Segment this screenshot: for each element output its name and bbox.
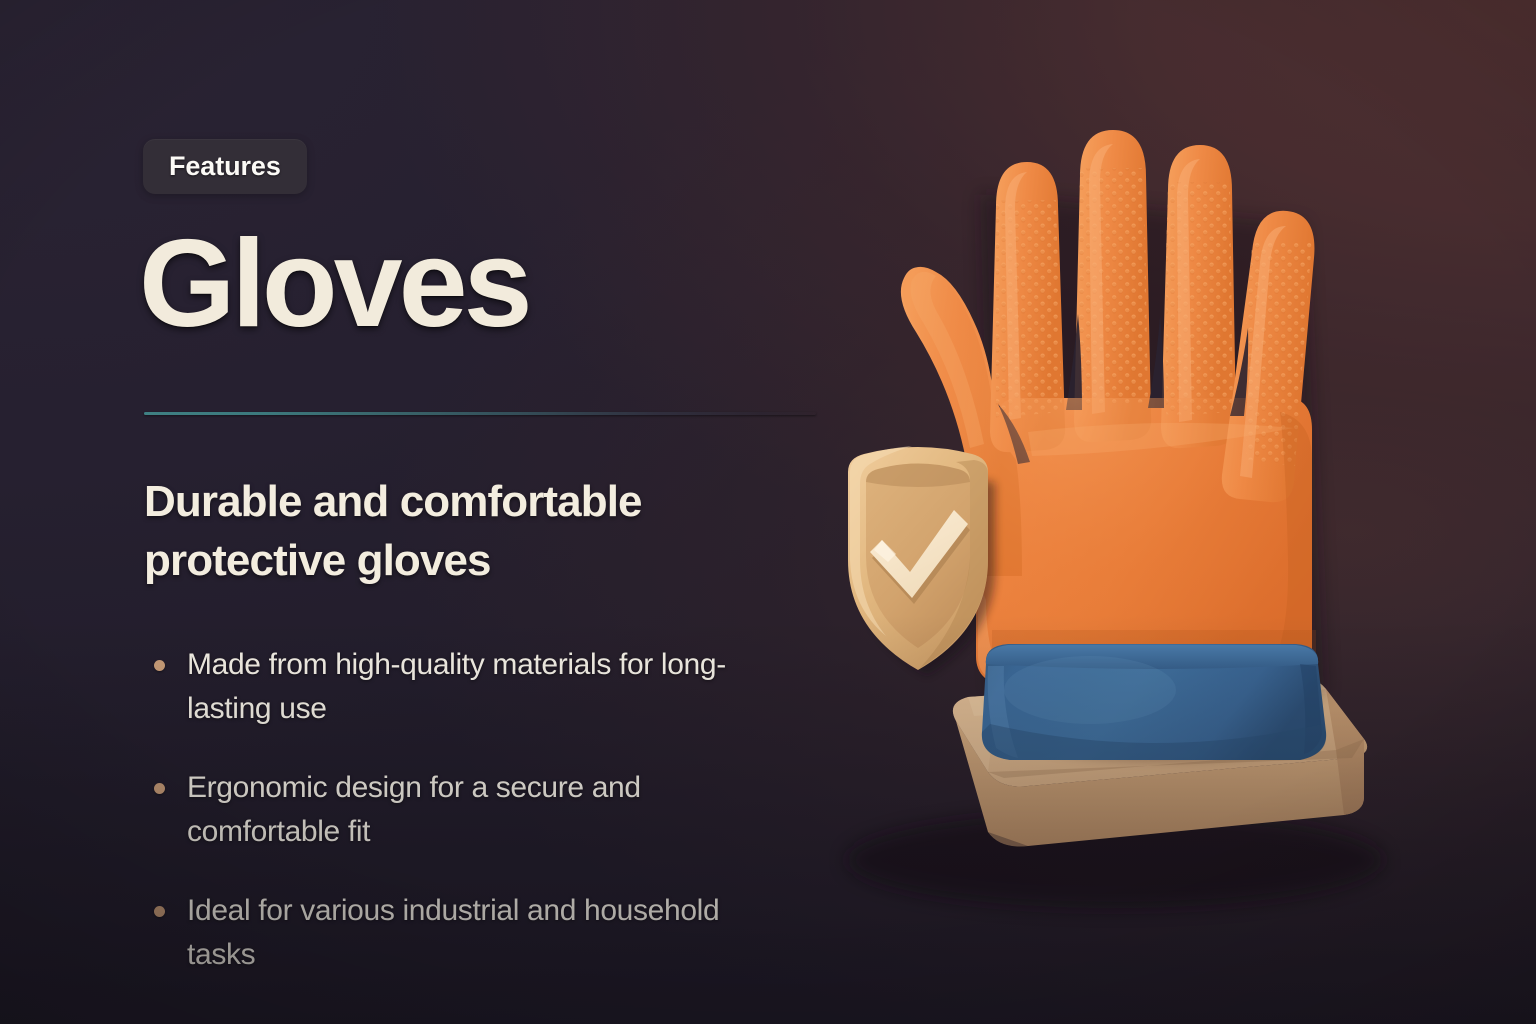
page-subtitle: Durable and comfortable protective glove… (144, 473, 764, 590)
accent-divider (144, 412, 816, 415)
bullet-dot-icon (154, 783, 165, 794)
finger-grip-dots-middle (1078, 168, 1152, 420)
bullet-dot-icon (154, 906, 165, 917)
list-item: Ergonomic design for a secure and comfor… (148, 766, 768, 854)
bullet-text: Ergonomic design for a secure and comfor… (187, 771, 641, 848)
page-title: Gloves (139, 222, 529, 346)
bullet-text: Ideal for various industrial and househo… (187, 894, 719, 971)
feature-bullet-list: Made from high-quality materials for lon… (148, 643, 768, 978)
cuff-sheen (1004, 656, 1176, 724)
features-badge-label: Features (169, 151, 281, 182)
list-item: Ideal for various industrial and househo… (148, 889, 768, 977)
finger-grip-dots-ring (1166, 182, 1238, 426)
bullet-text: Made from high-quality materials for lon… (187, 648, 726, 725)
text-column: Features Gloves Durable and comfortable … (143, 0, 883, 1024)
bullet-dot-icon (154, 660, 165, 671)
list-item: Made from high-quality materials for lon… (148, 643, 768, 731)
slide-canvas: Features Gloves Durable and comfortable … (0, 0, 1536, 1024)
glove-cuff (982, 644, 1326, 760)
features-badge: Features (143, 139, 307, 194)
